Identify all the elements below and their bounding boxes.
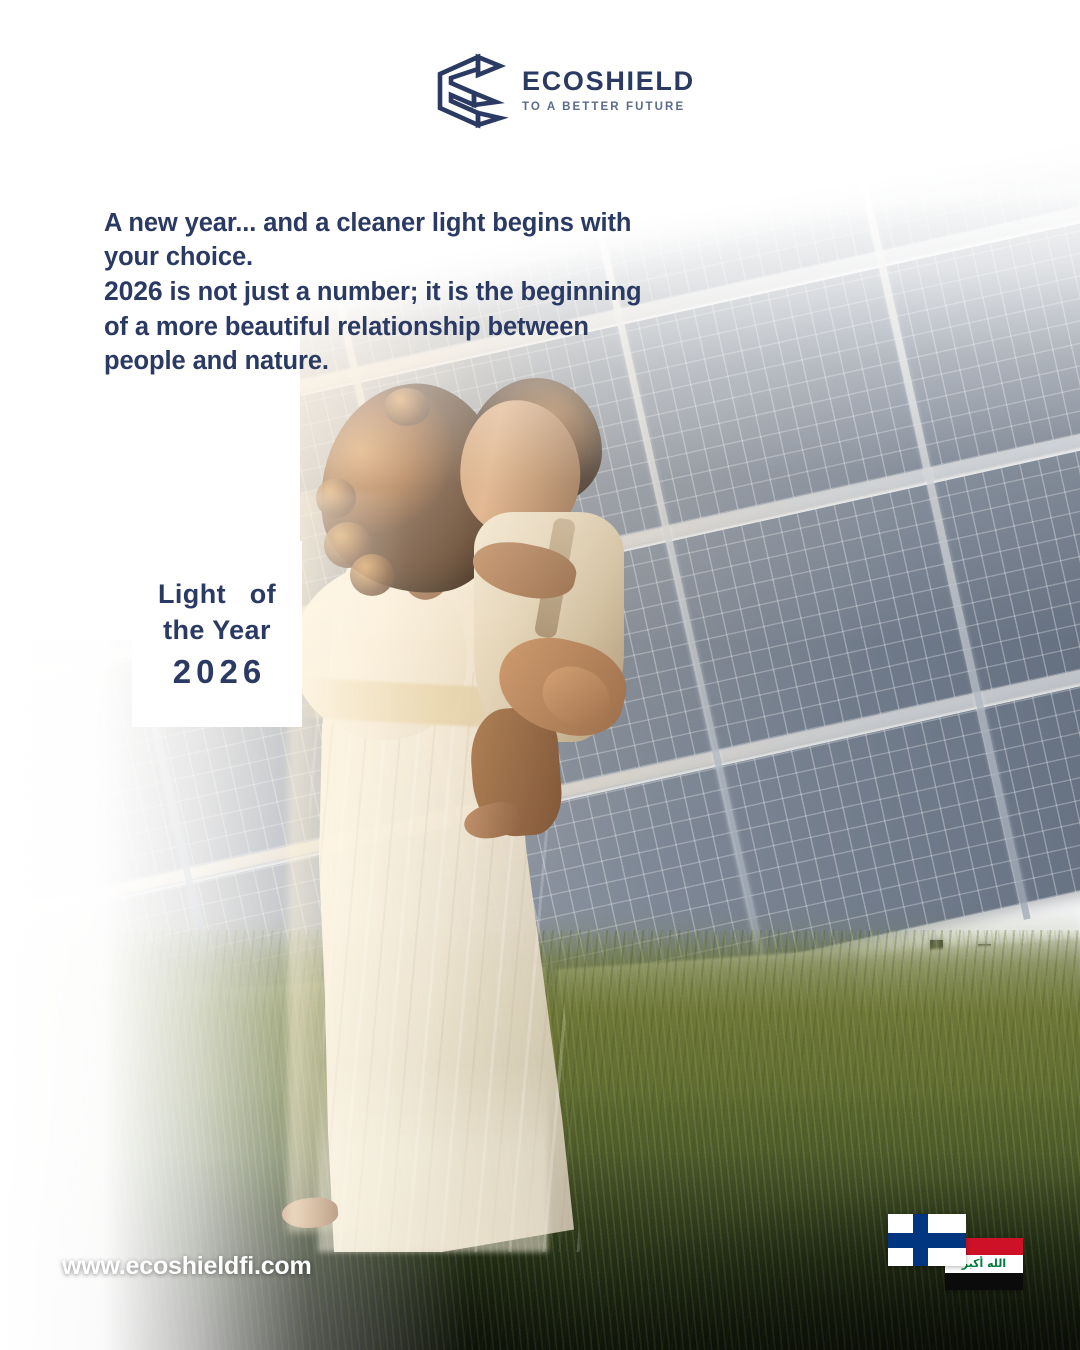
- hair-curl: [384, 388, 430, 426]
- ecoshield-logo[interactable]: ECOSHIELD TO A BETTER FUTURE: [432, 52, 695, 130]
- badge-year: 2026: [168, 655, 266, 688]
- badge-line-2: the Year: [163, 617, 271, 644]
- flags-group: الله أكبر: [888, 1214, 1028, 1294]
- ecoshield-isometric-e-logo-icon: [432, 52, 508, 130]
- headline-line-1: A new year... and a cleaner light begins…: [104, 209, 631, 237]
- headline-line-2: your choice.: [104, 243, 253, 271]
- headline-line-3: is not just a number; it is the beginnin…: [163, 278, 642, 306]
- iraq-flag-black-band: [945, 1273, 1023, 1290]
- headline-line-5: people and nature.: [104, 347, 329, 375]
- finland-flag-icon: [888, 1214, 966, 1266]
- finland-flag-vertical-bar: [913, 1214, 928, 1266]
- logo-wordmark: ECOSHIELD TO A BETTER FUTURE: [522, 68, 695, 114]
- badge-line-1: Light of: [158, 581, 276, 608]
- logo-tagline: TO A BETTER FUTURE: [522, 102, 695, 114]
- dress-hem-highlight: [318, 1062, 548, 1252]
- hair-curl: [350, 554, 394, 596]
- logo-brand-name: ECOSHIELD: [522, 68, 695, 95]
- hair-curl: [316, 478, 356, 518]
- headline-year: 2026: [104, 276, 163, 306]
- website-url[interactable]: www.ecoshieldfi.com: [62, 1252, 312, 1281]
- mother-and-child-figure: [258, 372, 678, 1252]
- headline-line-4: of a more beautiful relationship between: [104, 313, 589, 341]
- headline-copy: A new year... and a cleaner light begins…: [104, 206, 704, 378]
- poster-canvas: ECOSHIELD TO A BETTER FUTURE A new year.…: [0, 0, 1080, 1350]
- light-of-the-year-badge: Light of the Year 2026: [132, 541, 302, 727]
